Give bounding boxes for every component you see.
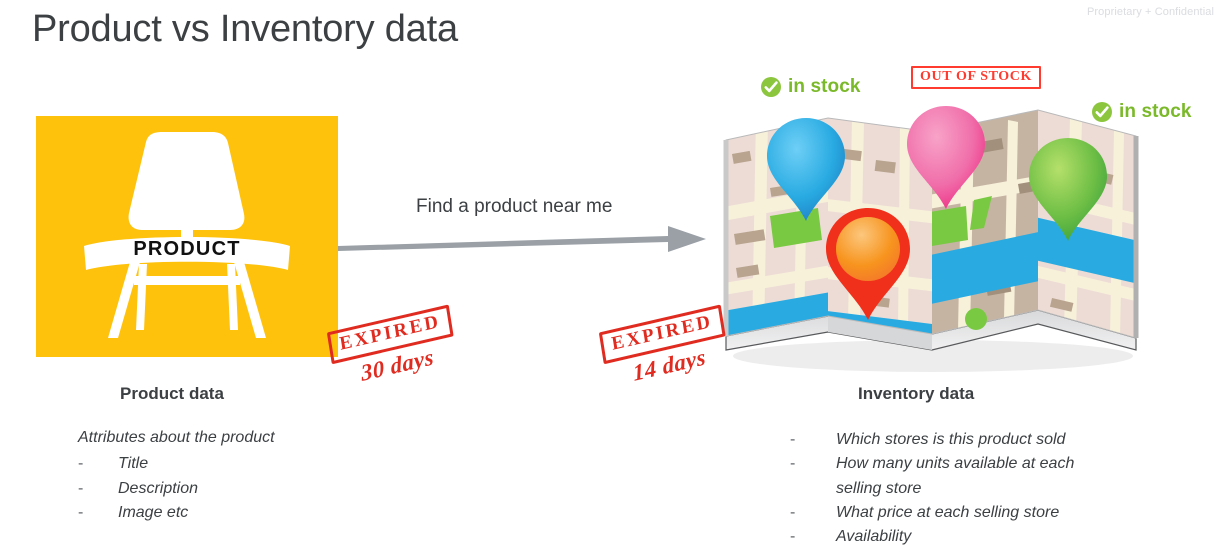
- product-overlay-text: PRODUCT: [133, 238, 240, 261]
- inventory-data-description: - Which stores is this product sold - Ho…: [790, 428, 1120, 550]
- expired-stamp-inventory: EXPIRED 14 days: [598, 305, 734, 393]
- slide: Product vs Inventory data Proprietary + …: [0, 0, 1228, 540]
- bullet-dash: -: [790, 428, 836, 452]
- confidentiality-notice: Proprietary + Confidential: [1087, 6, 1214, 18]
- map-illustration: [718, 88, 1198, 383]
- folded-map-graphic: [718, 88, 1198, 383]
- bullet-text: How many units available at each selling…: [836, 452, 1120, 501]
- list-item: - Title: [78, 452, 378, 476]
- in-stock-text: in stock: [788, 76, 861, 98]
- product-data-description: Attributes about the product - Title - D…: [78, 426, 378, 525]
- in-stock-label-left: in stock: [760, 76, 861, 98]
- product-lead-text: Attributes about the product: [78, 426, 378, 450]
- map-green-dot: [965, 308, 987, 330]
- expired-stamp-word: EXPIRED: [327, 304, 454, 364]
- in-stock-label-right: in stock: [1091, 101, 1192, 123]
- bullet-dash: -: [78, 477, 118, 501]
- list-item: - What price at each selling store: [790, 501, 1120, 525]
- arrow-label: Find a product near me: [416, 196, 612, 218]
- list-item: - Which stores is this product sold: [790, 428, 1120, 452]
- check-circle-icon: [1091, 101, 1113, 123]
- bullet-dash: -: [790, 525, 836, 549]
- arrow-shape: [338, 222, 708, 256]
- list-item: - Image etc: [78, 501, 378, 525]
- check-circle-icon: [760, 76, 782, 98]
- bullet-dash: -: [78, 452, 118, 476]
- bullet-text: What price at each selling store: [836, 501, 1120, 525]
- expired-stamp-product: EXPIRED 30 days: [326, 305, 462, 393]
- list-item: - Availability: [790, 525, 1120, 549]
- bullet-text: Description: [118, 477, 378, 501]
- product-bullet-list: - Title - Description - Image etc: [78, 452, 378, 525]
- bullet-dash: -: [78, 501, 118, 525]
- bullet-text: Title: [118, 452, 378, 476]
- chair-icon: [82, 130, 292, 340]
- bullet-text: Which stores is this product sold: [836, 428, 1120, 452]
- out-of-stock-badge: OUT OF STOCK: [911, 66, 1041, 89]
- bullet-dash: -: [790, 452, 836, 476]
- product-image-tile: PRODUCT: [36, 116, 338, 357]
- inventory-bullet-list: - Which stores is this product sold - Ho…: [790, 428, 1120, 550]
- product-data-caption: Product data: [120, 384, 224, 404]
- bullet-text: Image etc: [118, 501, 378, 525]
- bullet-text: Availability: [836, 525, 1120, 549]
- expired-stamp-days: 14 days: [607, 339, 732, 393]
- expired-stamp-days: 30 days: [335, 339, 460, 393]
- bullet-dash: -: [790, 501, 836, 525]
- expired-stamp-word: EXPIRED: [599, 304, 726, 364]
- in-stock-text: in stock: [1119, 101, 1192, 123]
- list-item: - Description: [78, 477, 378, 501]
- flow-arrow: Find a product near me: [338, 196, 708, 256]
- list-item: - How many units available at each selli…: [790, 452, 1120, 501]
- page-title: Product vs Inventory data: [32, 8, 458, 51]
- inventory-data-caption: Inventory data: [858, 384, 974, 404]
